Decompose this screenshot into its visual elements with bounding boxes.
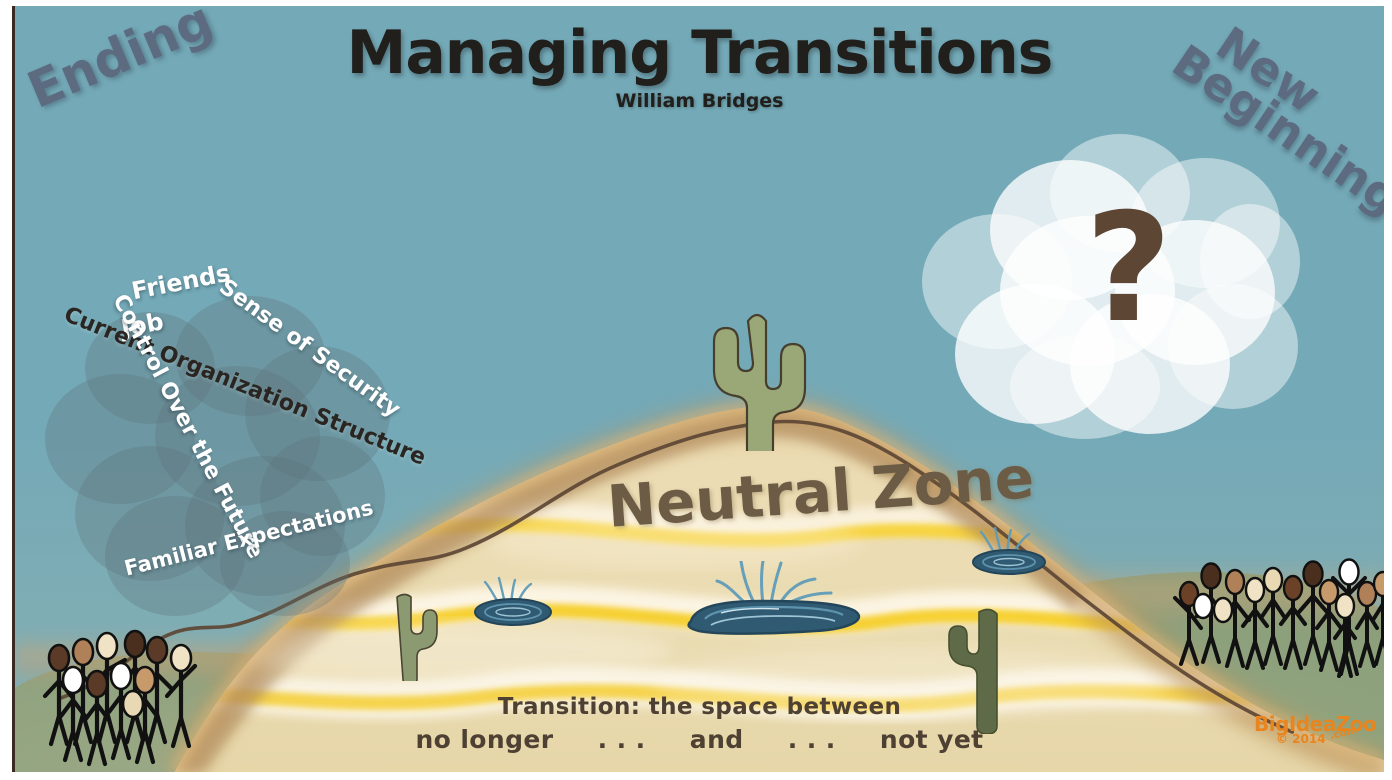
new-beginning-cloud: ? bbox=[900, 134, 1300, 444]
caption-and: and bbox=[690, 725, 744, 754]
caption-dots-1: . . . bbox=[598, 725, 646, 754]
caption-line-2: no longer . . . and . . . not yet bbox=[15, 725, 1384, 754]
question-mark-icon: ? bbox=[1085, 194, 1172, 344]
author-credit: William Bridges bbox=[15, 90, 1384, 112]
logo-copyright: © 2014 bbox=[1276, 732, 1326, 746]
bigideazoo-logo[interactable]: BigIdeaZoo © 2014 .com bbox=[1254, 712, 1366, 760]
oasis-right bbox=[961, 524, 1057, 580]
caption-no-longer: no longer bbox=[415, 725, 553, 754]
oasis-left bbox=[463, 574, 563, 630]
caption-dots-2: . . . bbox=[788, 725, 836, 754]
transition-caption: Transition: the space between no longer … bbox=[15, 694, 1384, 754]
cactus-top-ridge bbox=[701, 291, 811, 451]
oasis-center bbox=[675, 561, 875, 651]
poster-frame: Friends Job Sense of Security Current Or… bbox=[0, 0, 1392, 780]
illustration-canvas: Friends Job Sense of Security Current Or… bbox=[12, 6, 1384, 772]
cactus-left-slope bbox=[383, 591, 439, 681]
caption-line-1: Transition: the space between bbox=[15, 694, 1384, 720]
cloud-puff bbox=[1168, 284, 1298, 409]
crowd-new-beginning-side bbox=[1163, 546, 1384, 681]
caption-not-yet: not yet bbox=[880, 725, 984, 754]
